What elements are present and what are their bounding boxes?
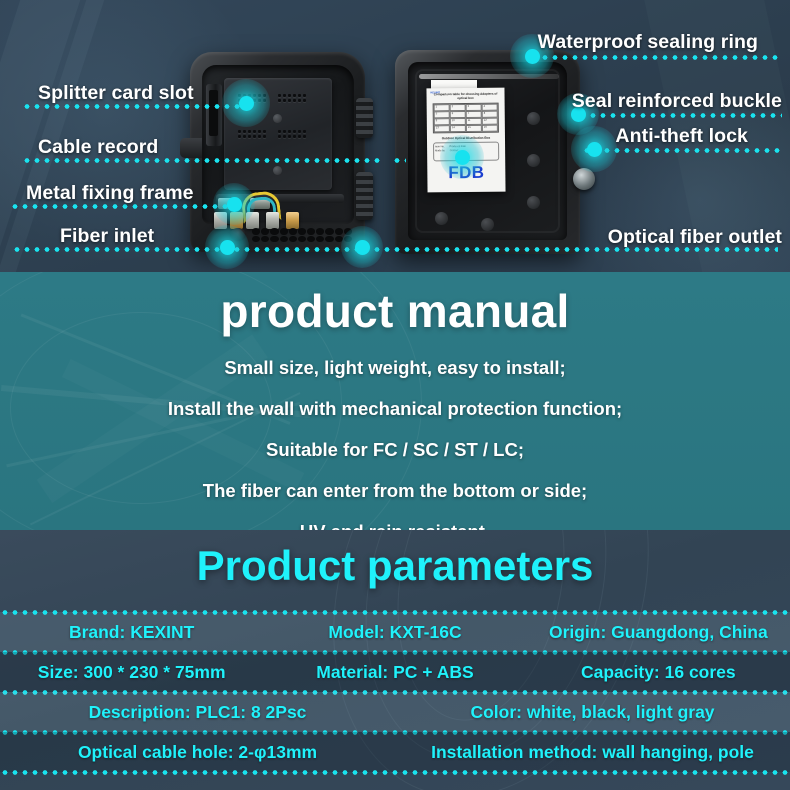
screw-cap-icon [273, 166, 282, 175]
marker-anti-theft-lock[interactable] [571, 126, 617, 172]
product-manual-section: product manual Small size, light weight,… [0, 272, 790, 530]
bottom-grill [252, 228, 352, 242]
lid-bumper [527, 112, 540, 125]
callout-metal-fixing-frame: Metal fixing frame [26, 182, 194, 205]
table-row: Size: 300 * 230 * 75mm Material: PC + AB… [0, 652, 790, 692]
label-logo: KEXINT [430, 91, 440, 94]
param-description: Description: PLC1: 8 2Psc [0, 702, 395, 723]
param-installation-method: Installation method: wall hanging, pole [395, 742, 790, 763]
param-material: Material: PC + ABS [263, 662, 526, 683]
side-cable-port [180, 138, 202, 158]
callout-waterproof-sealing-ring: Waterproof sealing ring [538, 31, 758, 54]
callout-splitter-card-slot: Splitter card slot [38, 82, 194, 105]
manual-bullet: UV and rain resistant. [0, 521, 790, 530]
product-infographic: KEXINT Comparison table for choosing Ada… [0, 0, 790, 790]
manual-bullet-list: Small size, light weight, easy to instal… [0, 357, 790, 530]
screw-cap-icon [273, 114, 282, 123]
callout-optical-fiber-outlet: Optical fiber outlet [608, 226, 782, 249]
manual-bullet: Install the wall with mechanical protect… [0, 398, 790, 420]
manual-heading: product manual [0, 284, 790, 338]
callout-seal-reinforced-buckle: Seal reinforced buckle [572, 90, 782, 113]
callout-anti-theft-lock: Anti-theft lock [615, 125, 748, 148]
callout-line-seal-reinforced-buckle [588, 113, 782, 118]
param-color: Color: white, black, light gray [395, 702, 790, 723]
marker-metal-fixing-frame[interactable] [213, 183, 255, 225]
callout-fiber-inlet: Fiber inlet [60, 225, 154, 248]
callout-cable-record: Cable record [38, 136, 158, 159]
lid-bumper [435, 212, 448, 225]
lid-bumper [481, 218, 494, 231]
callout-line-cable-record-right [392, 158, 406, 163]
splitter-card-slot [206, 84, 222, 146]
table-row: Description: PLC1: 8 2Psc Color: white, … [0, 692, 790, 732]
vent-grid [238, 130, 266, 138]
manual-bullet: The fiber can enter from the bottom or s… [0, 480, 790, 502]
hero-section: KEXINT Comparison table for choosing Ada… [0, 0, 790, 272]
lid-bumper [527, 196, 540, 209]
table-row: Optical cable hole: 2-φ13mm Installation… [0, 732, 790, 772]
label-table: 1234 5678 9101112 13141516 [433, 103, 499, 134]
param-optical-cable-hole: Optical cable hole: 2-φ13mm [0, 742, 395, 763]
label-title: Comparison table for choosing Adapters o… [430, 92, 500, 101]
marker-optical-fiber-outlet[interactable] [341, 226, 383, 268]
table-row: Brand: KEXINT Model: KXT-16C Origin: Gua… [0, 612, 790, 652]
callout-line-waterproof-sealing-ring [530, 55, 780, 60]
product-photo-open-box [190, 52, 365, 252]
product-photo-lid: KEXINT Comparison table for choosing Ada… [395, 50, 580, 254]
param-model: Model: KXT-16C [263, 622, 526, 643]
param-brand: Brand: KEXINT [0, 622, 263, 643]
parameters-table: Brand: KEXINT Model: KXT-16C Origin: Gua… [0, 612, 790, 772]
fiber-connector [266, 212, 279, 229]
parameters-heading: Product parameters [0, 530, 790, 590]
marker-fiber-inlet[interactable] [205, 225, 249, 269]
param-capacity: Capacity: 16 cores [527, 662, 790, 683]
fiber-connector [286, 212, 299, 229]
row-separator [0, 610, 790, 615]
marker-cable-record[interactable] [440, 135, 484, 179]
hinge [356, 98, 373, 138]
vent-grid [278, 130, 306, 138]
marker-splitter-card-slot[interactable] [222, 79, 270, 127]
param-size: Size: 300 * 230 * 75mm [0, 662, 263, 683]
param-origin: Origin: Guangdong, China [527, 622, 790, 643]
manual-bullet: Suitable for FC / SC / ST / LC; [0, 439, 790, 461]
product-parameters-section: Product parameters Brand: KEXINT Model: … [0, 530, 790, 790]
row-separator [0, 770, 790, 775]
lid-bumper [527, 154, 540, 167]
hinge [356, 172, 373, 220]
manual-bullet: Small size, light weight, easy to instal… [0, 357, 790, 379]
vent-grid [278, 94, 306, 102]
